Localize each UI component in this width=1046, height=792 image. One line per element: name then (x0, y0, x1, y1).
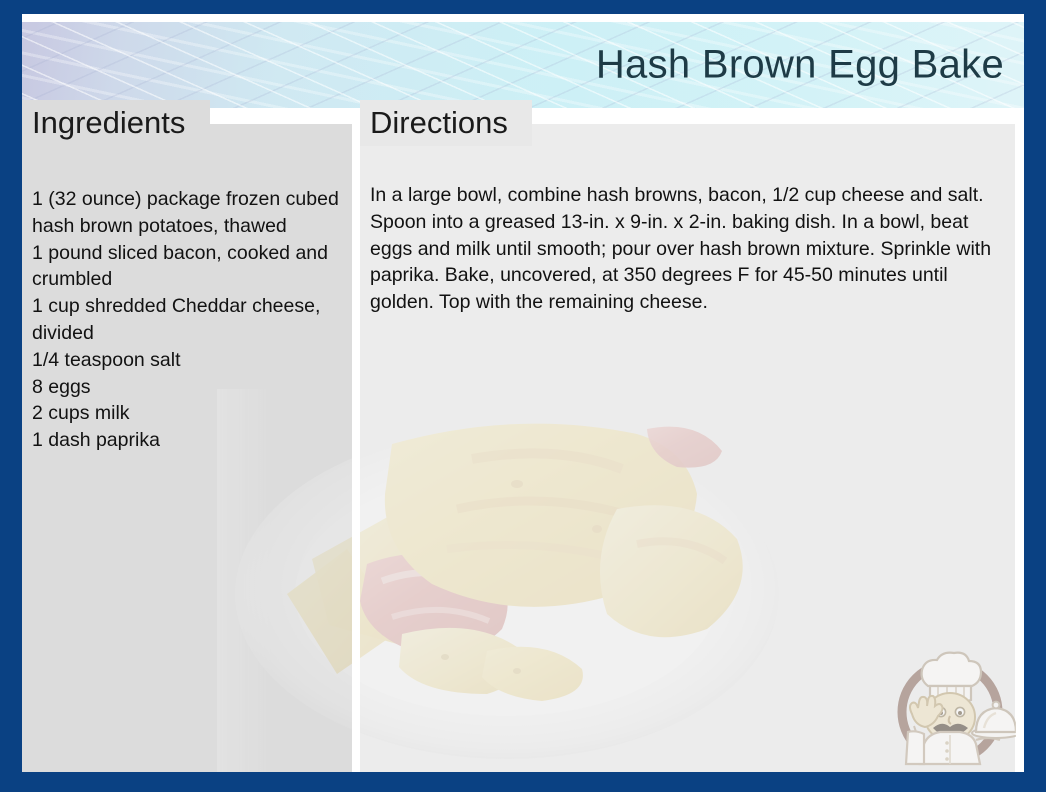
list-item: 8 eggs (32, 374, 350, 401)
ingredients-heading-tab: Ingredients (22, 100, 210, 146)
list-item: 1 (32 ounce) package frozen cubed hash b… (32, 186, 350, 240)
ingredients-heading: Ingredients (32, 105, 185, 141)
list-item: 1 pound sliced bacon, cooked and crumble… (32, 240, 350, 294)
card-content-area: Hash Brown Egg Bake Ingredients 1 (32 ou… (22, 14, 1024, 772)
panel-divider (352, 124, 360, 772)
page-title: Hash Brown Egg Bake (596, 43, 1004, 88)
ingredients-list: 1 (32 ounce) package frozen cubed hash b… (32, 186, 350, 454)
title-banner: Hash Brown Egg Bake (22, 22, 1024, 108)
list-item: 1 dash paprika (32, 427, 350, 454)
directions-text: In a large bowl, combine hash browns, ba… (370, 182, 1008, 316)
list-item: 1/4 teaspoon salt (32, 347, 350, 374)
list-item: 2 cups milk (32, 400, 350, 427)
frame-border-top (0, 0, 1046, 14)
directions-panel: Directions In a large bowl, combine hash… (360, 124, 1015, 772)
directions-heading: Directions (370, 105, 508, 141)
ingredients-panel: Ingredients 1 (32 ounce) package frozen … (22, 124, 352, 772)
frame-border-right (1024, 0, 1046, 792)
recipe-card-page: Hash Brown Egg Bake Ingredients 1 (32 ou… (0, 0, 1046, 792)
frame-border-bottom (0, 772, 1046, 792)
frame-border-left (0, 0, 22, 792)
list-item: 1 cup shredded Cheddar cheese, divided (32, 293, 350, 347)
directions-heading-tab: Directions (360, 100, 532, 146)
